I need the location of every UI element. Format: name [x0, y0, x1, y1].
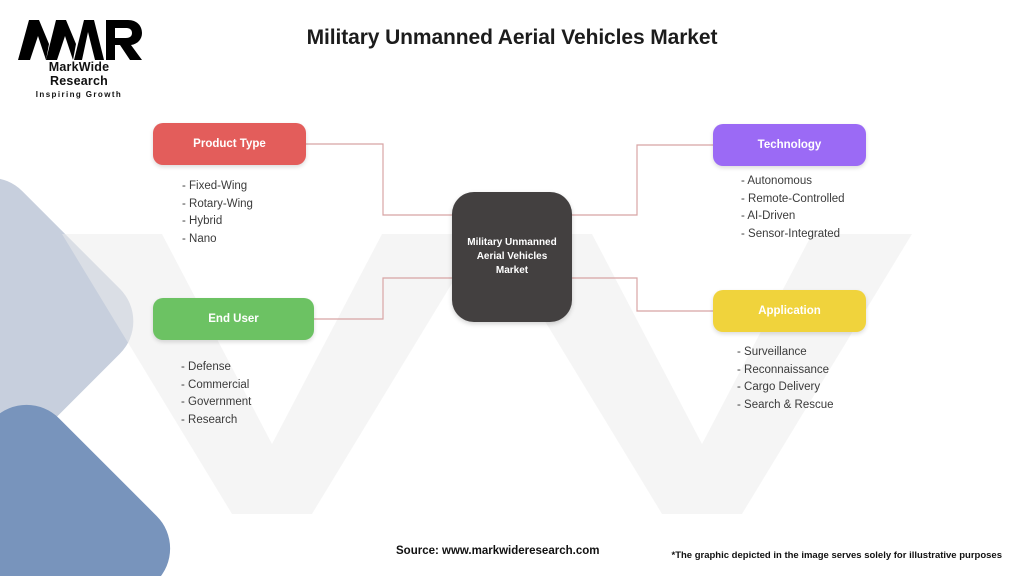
list-item: - Surveillance — [737, 344, 834, 362]
branch-items-end-user: - Defense - Commercial - Government - Re… — [181, 359, 251, 429]
list-item: - Commercial — [181, 377, 251, 395]
list-item: - Fixed-Wing — [182, 178, 253, 196]
center-node: Military Unmanned Aerial Vehicles Market — [452, 192, 572, 322]
branch-label-technology: Technology — [758, 139, 822, 151]
source-text: Source: www.markwideresearch.com — [396, 545, 599, 557]
branch-pill-application[interactable]: Application — [713, 290, 866, 332]
list-item: - Nano — [182, 231, 253, 249]
disclaimer-text: *The graphic depicted in the image serve… — [672, 550, 1003, 561]
connector-application — [572, 278, 713, 311]
branch-label-application: Application — [758, 305, 821, 317]
branch-label-product-type: Product Type — [193, 138, 266, 150]
connector-end-user — [314, 278, 452, 319]
center-node-label: Military Unmanned Aerial Vehicles Market — [459, 236, 564, 277]
logo-tagline: Inspiring Growth — [20, 90, 138, 99]
branch-items-technology: - Autonomous - Remote-Controlled - AI-Dr… — [741, 173, 845, 243]
branch-pill-product-type[interactable]: Product Type — [153, 123, 306, 165]
list-item: - Cargo Delivery — [737, 379, 834, 397]
branch-pill-technology[interactable]: Technology — [713, 124, 866, 166]
list-item: - Hybrid — [182, 213, 253, 231]
list-item: - AI-Driven — [741, 208, 845, 226]
list-item: - Defense — [181, 359, 251, 377]
branch-label-end-user: End User — [208, 313, 259, 325]
list-item: - Reconnaissance — [737, 362, 834, 380]
branch-pill-end-user[interactable]: End User — [153, 298, 314, 340]
decorative-shape-dark — [0, 386, 189, 576]
branch-items-application: - Surveillance - Reconnaissance - Cargo … — [737, 344, 834, 414]
list-item: - Autonomous — [741, 173, 845, 191]
list-item: - Government — [181, 394, 251, 412]
list-item: - Search & Rescue — [737, 397, 834, 415]
connector-product-type — [306, 144, 452, 215]
page-title: Military Unmanned Aerial Vehicles Market — [0, 26, 1024, 50]
connector-technology — [572, 145, 713, 215]
branch-items-product-type: - Fixed-Wing - Rotary-Wing - Hybrid - Na… — [182, 178, 253, 248]
list-item: - Rotary-Wing — [182, 196, 253, 214]
logo-company-name: MarkWide Research — [20, 60, 138, 88]
list-item: - Remote-Controlled — [741, 191, 845, 209]
list-item: - Research — [181, 412, 251, 430]
list-item: - Sensor-Integrated — [741, 226, 845, 244]
diagram-canvas: MarkWide Research Inspiring Growth Milit… — [0, 0, 1024, 576]
